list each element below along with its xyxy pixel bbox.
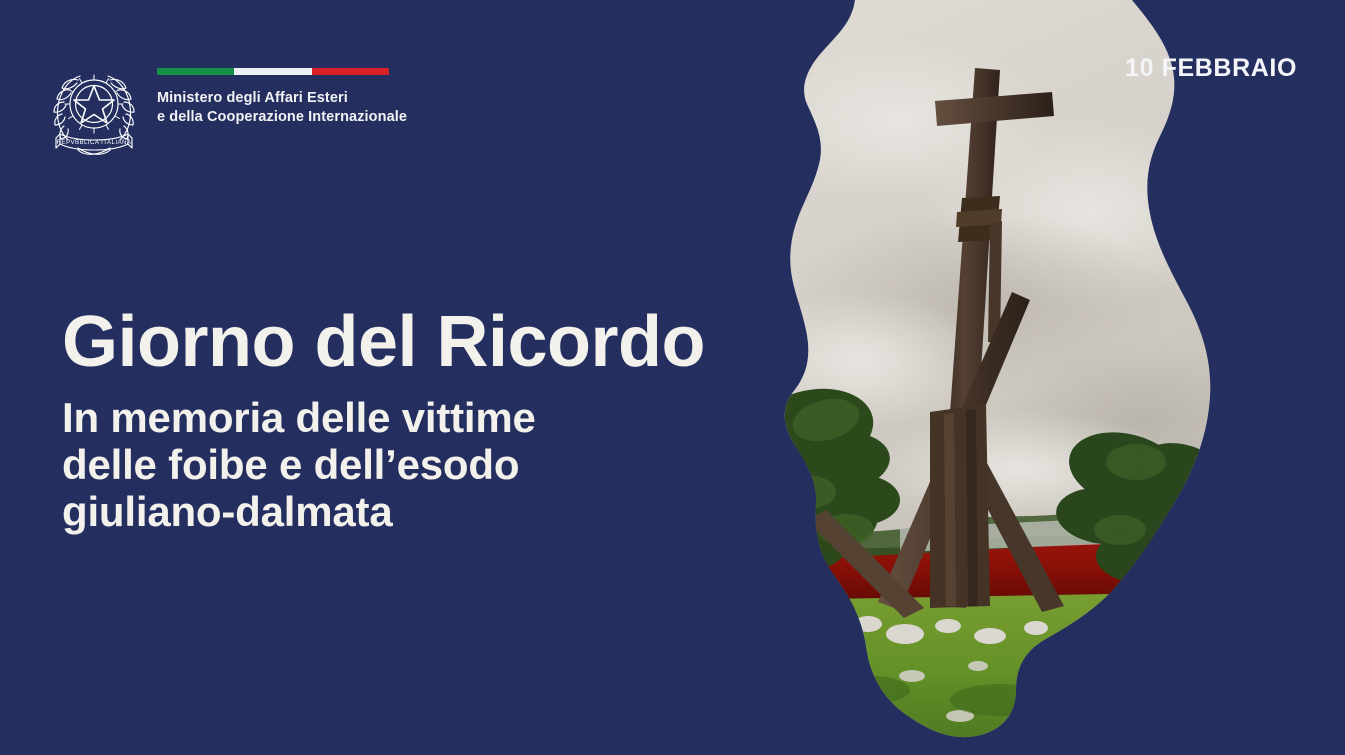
tricolor-green (157, 68, 234, 75)
ministry-brand-text: Ministero degli Affari Esteri e della Co… (157, 52, 407, 127)
page-subtitle: In memoria delle vittime delle foibe e d… (62, 394, 782, 535)
ministry-name: Ministero degli Affari Esteri e della Co… (157, 89, 407, 127)
tricolor-red (312, 68, 389, 75)
ministry-brand: REPVBBLICA ITALIANA Ministero degli Affa… (48, 52, 407, 162)
page-title: Giorno del Ricordo (62, 302, 782, 382)
headline-block: Giorno del Ricordo In memoria delle vitt… (62, 302, 782, 535)
italian-tricolor-bar (157, 68, 389, 75)
date-label: 10 FEBBRAIO (1125, 54, 1297, 83)
poster-canvas: REPVBBLICA ITALIANA Ministero degli Affa… (0, 0, 1345, 755)
italian-republic-emblem-icon: REPVBBLICA ITALIANA (48, 52, 140, 162)
tricolor-white (234, 68, 311, 75)
emblem-ribbon-text: REPVBBLICA ITALIANA (57, 139, 132, 146)
